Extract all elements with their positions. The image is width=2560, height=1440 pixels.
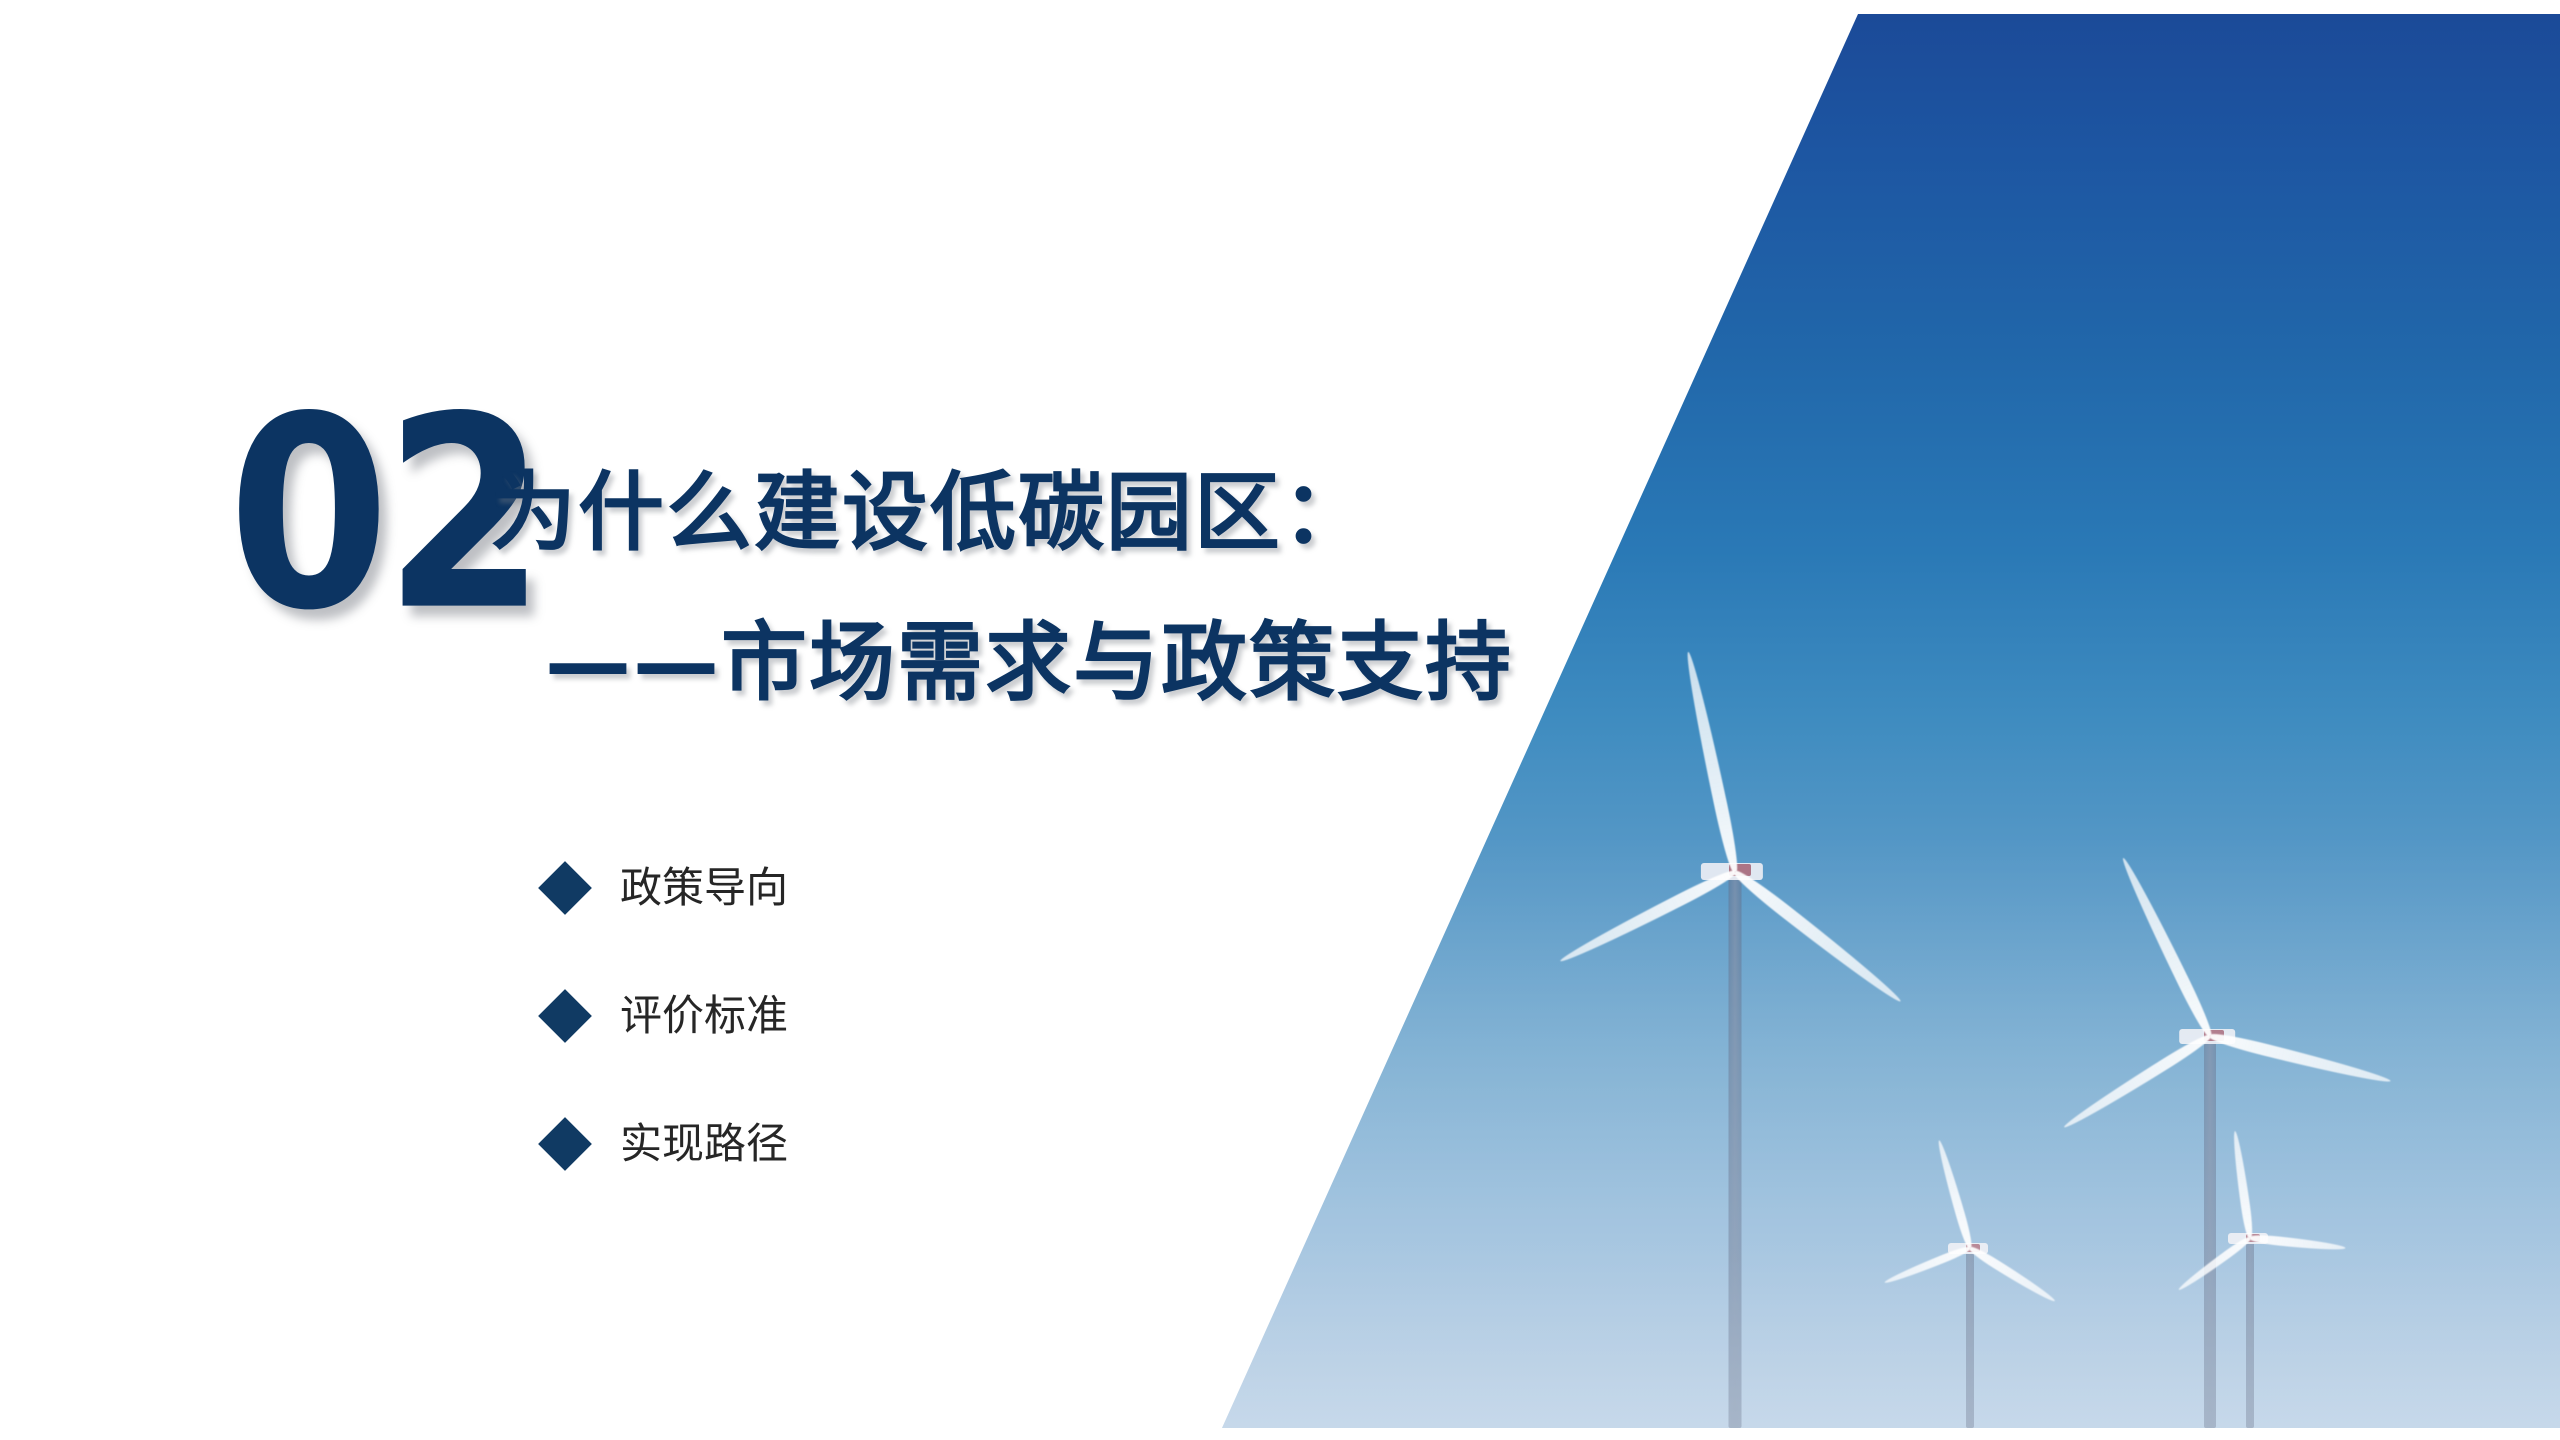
list-item[interactable]: 政策导向 [546, 862, 788, 914]
list-item[interactable]: 评价标准 [546, 990, 788, 1042]
diamond-bullet-icon [538, 1117, 592, 1171]
diamond-bullet-icon [538, 989, 592, 1043]
section-title-line-1: 为什么建设低碳园区： [490, 470, 1570, 556]
list-item-label: 实现路径 [620, 1123, 788, 1165]
slide-canvas: 02 为什么建设低碳园区： ——市场需求与政策支持 政策导向 评价标准 实现路径 [0, 0, 2560, 1440]
section-title: 为什么建设低碳园区： ——市场需求与政策支持 [490, 470, 1570, 706]
list-item[interactable]: 实现路径 [546, 1118, 788, 1170]
section-title-line-2: ——市场需求与政策支持 [545, 620, 1570, 706]
diamond-bullet-icon [538, 861, 592, 915]
list-item-label: 评价标准 [620, 995, 788, 1037]
list-item-label: 政策导向 [620, 867, 788, 909]
slide-content: 02 为什么建设低碳园区： ——市场需求与政策支持 政策导向 评价标准 实现路径 [0, 0, 1600, 1440]
agenda-list: 政策导向 评价标准 实现路径 [546, 862, 788, 1170]
